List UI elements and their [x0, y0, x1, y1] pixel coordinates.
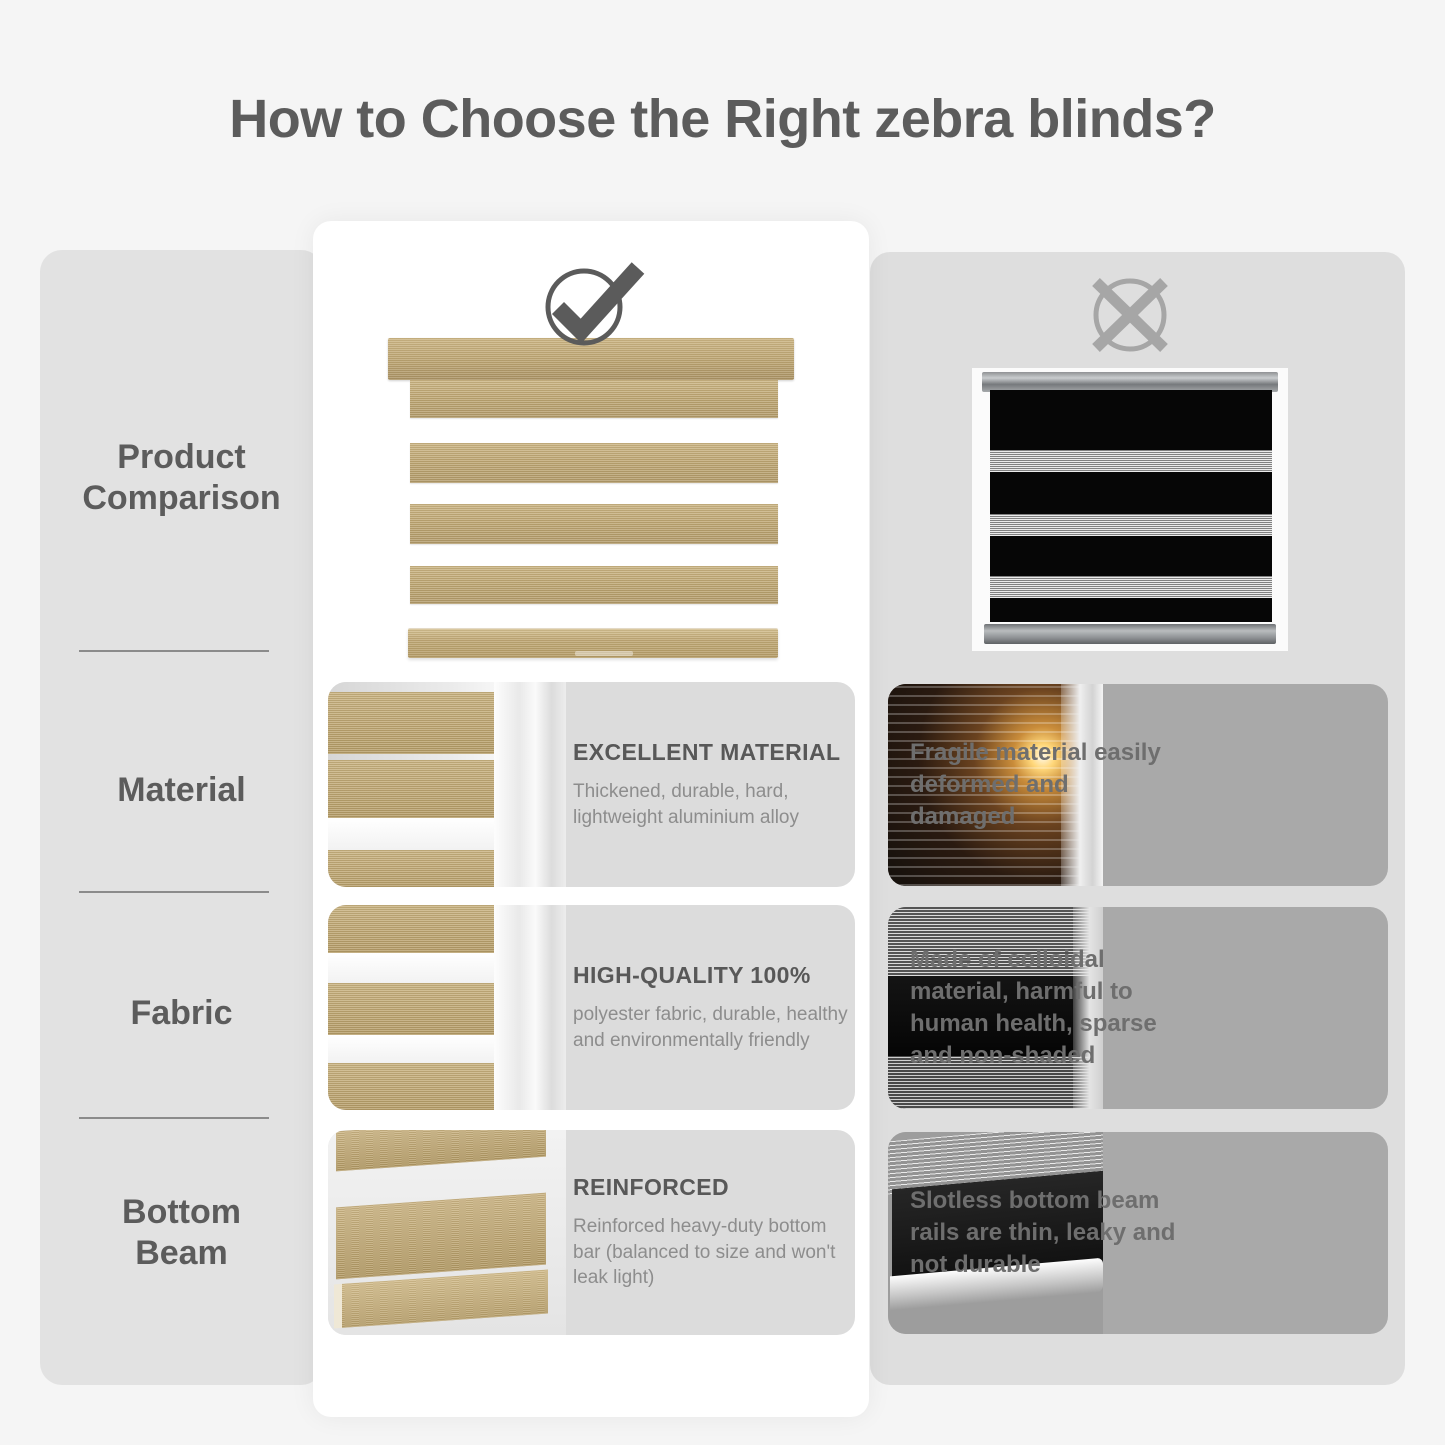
- blind-bottom-bar: [984, 624, 1276, 644]
- feature-description: Reinforced heavy-duty bottom bar (balanc…: [573, 1214, 855, 1291]
- feature-text-fabric-good: HIGH-QUALITY 100% polyester fabric, dura…: [573, 905, 855, 1110]
- feature-text-material-good: EXCELLENT MATERIAL Thickened, durable, h…: [573, 682, 855, 887]
- feature-warning: Made of colloidal material, harmful to h…: [910, 944, 1180, 1072]
- cross-circle-icon: [1082, 266, 1178, 360]
- row-divider-2: [79, 891, 269, 893]
- feature-photo-material-good: [328, 682, 566, 887]
- feature-card-bottom-beam-bad: Slotless bottom beam rails are thin, lea…: [888, 1132, 1388, 1334]
- feature-card-bottom-beam-good: REINFORCED Reinforced heavy-duty bottom …: [328, 1130, 855, 1335]
- blind-headrail: [982, 372, 1278, 392]
- feature-text-material-bad: Fragile material easily deformed and dam…: [910, 684, 1180, 886]
- row-label-product-comparison: Product Comparison: [40, 437, 323, 520]
- product-image-good: [388, 338, 794, 668]
- row-label-line1: Fabric: [130, 994, 232, 1032]
- feature-card-fabric-bad: Made of colloidal material, harmful to h…: [888, 907, 1388, 1109]
- blind-band: [410, 566, 778, 604]
- feature-card-material-good: EXCELLENT MATERIAL Thickened, durable, h…: [328, 682, 855, 887]
- row-label-line2: Beam: [40, 1233, 323, 1274]
- page-title: How to Choose the Right zebra blinds?: [0, 88, 1445, 150]
- feature-text-fabric-bad: Made of colloidal material, harmful to h…: [910, 907, 1180, 1109]
- row-divider-1: [79, 650, 269, 652]
- row-label-line1: Product: [117, 438, 245, 476]
- feature-warning: Fragile material easily deformed and dam…: [910, 737, 1180, 833]
- blind-band: [410, 504, 778, 544]
- row-label-material: Material: [40, 770, 323, 811]
- feature-title: EXCELLENT MATERIAL: [573, 739, 855, 766]
- row-label-line2: Comparison: [40, 478, 323, 519]
- feature-description: polyester fabric, durable, healthy and e…: [573, 1002, 855, 1053]
- feature-card-material-bad: Fragile material easily deformed and dam…: [888, 684, 1388, 886]
- row-label-bottom-beam: Bottom Beam: [40, 1192, 323, 1275]
- product-image-bad: [972, 368, 1288, 651]
- row-label-line1: Bottom: [122, 1193, 241, 1231]
- feature-text-bottom-beam-bad: Slotless bottom beam rails are thin, lea…: [910, 1132, 1180, 1334]
- row-label-fabric: Fabric: [40, 993, 323, 1034]
- feature-title: HIGH-QUALITY 100%: [573, 962, 855, 989]
- blind-sheer-stripe: [990, 514, 1272, 536]
- feature-title: REINFORCED: [573, 1174, 855, 1201]
- blind-body: [990, 390, 1272, 622]
- blind-sheer-stripe: [990, 450, 1272, 472]
- feature-warning: Slotless bottom beam rails are thin, lea…: [910, 1185, 1180, 1281]
- feature-card-fabric-good: HIGH-QUALITY 100% polyester fabric, dura…: [328, 905, 855, 1110]
- blind-band: [410, 380, 778, 418]
- blind-sheer-stripe: [990, 576, 1272, 598]
- check-circle-icon: [534, 252, 650, 352]
- blind-band: [410, 443, 778, 483]
- feature-text-bottom-beam-good: REINFORCED Reinforced heavy-duty bottom …: [573, 1130, 855, 1335]
- row-divider-3: [79, 1117, 269, 1119]
- feature-photo-bottom-beam-good: [328, 1130, 566, 1335]
- row-label-line1: Material: [117, 771, 246, 809]
- feature-photo-fabric-good: [328, 905, 566, 1110]
- feature-description: Thickened, durable, hard, lightweight al…: [573, 779, 855, 830]
- blind-bottom-bar: [408, 628, 778, 658]
